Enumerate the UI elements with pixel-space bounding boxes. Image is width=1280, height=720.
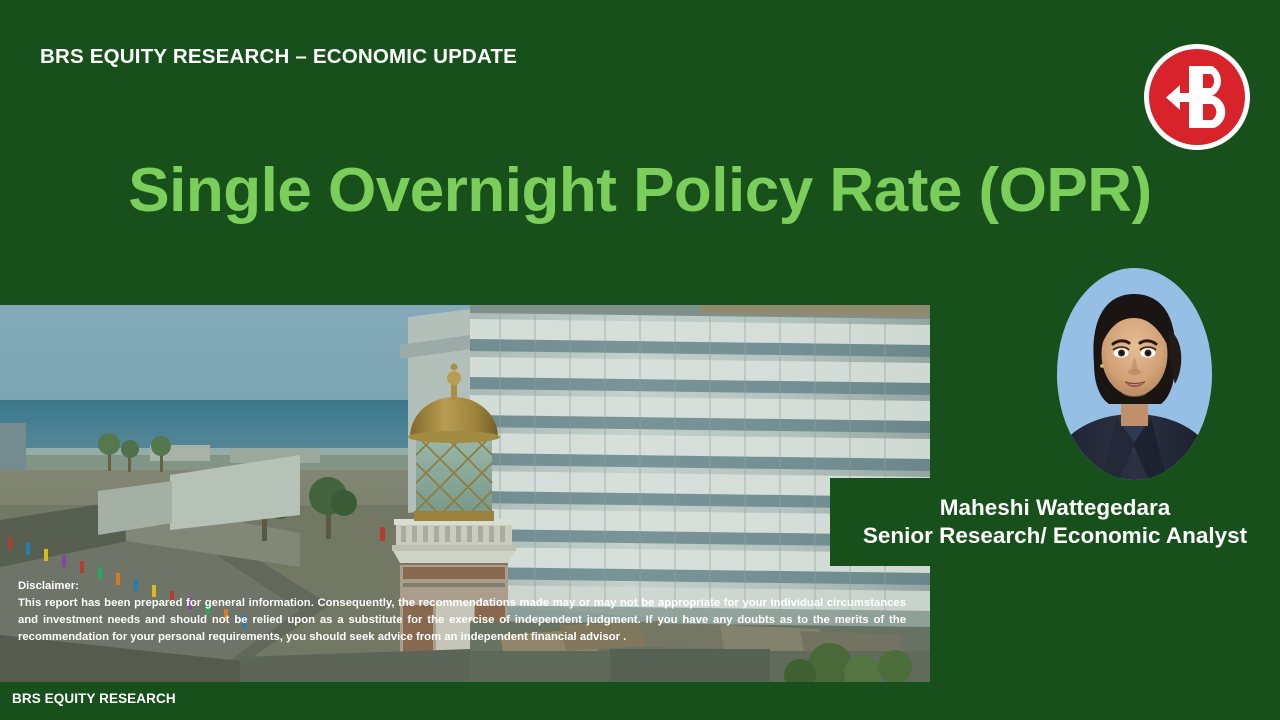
page-title: BRS EQUITY RESEARCH – ECONOMIC UPDATE xyxy=(40,45,517,69)
disclaimer-heading: Disclaimer: xyxy=(18,578,906,595)
footer-brand-label: BRS EQUITY RESEARCH xyxy=(12,691,176,706)
analyst-name: Maheshi Wattegedara xyxy=(940,495,1170,521)
brs-b-arrow-logo-icon xyxy=(1142,42,1252,152)
analyst-role: Senior Research/ Economic Analyst xyxy=(863,523,1247,549)
disclaimer-body: This report has been prepared for genera… xyxy=(18,595,906,646)
slide-title: Single Overnight Policy Rate (OPR) xyxy=(0,158,1280,225)
disclaimer: Disclaimer: This report has been prepare… xyxy=(18,578,906,647)
analyst-info-panel: Maheshi Wattegedara Senior Research/ Eco… xyxy=(830,478,1280,566)
presentation-slide: BRS EQUITY RESEARCH – ECONOMIC UPDATE Si… xyxy=(0,0,1280,720)
analyst-portrait-avatar-icon xyxy=(1057,268,1212,480)
footer-bar: BRS EQUITY RESEARCH xyxy=(0,682,1280,720)
